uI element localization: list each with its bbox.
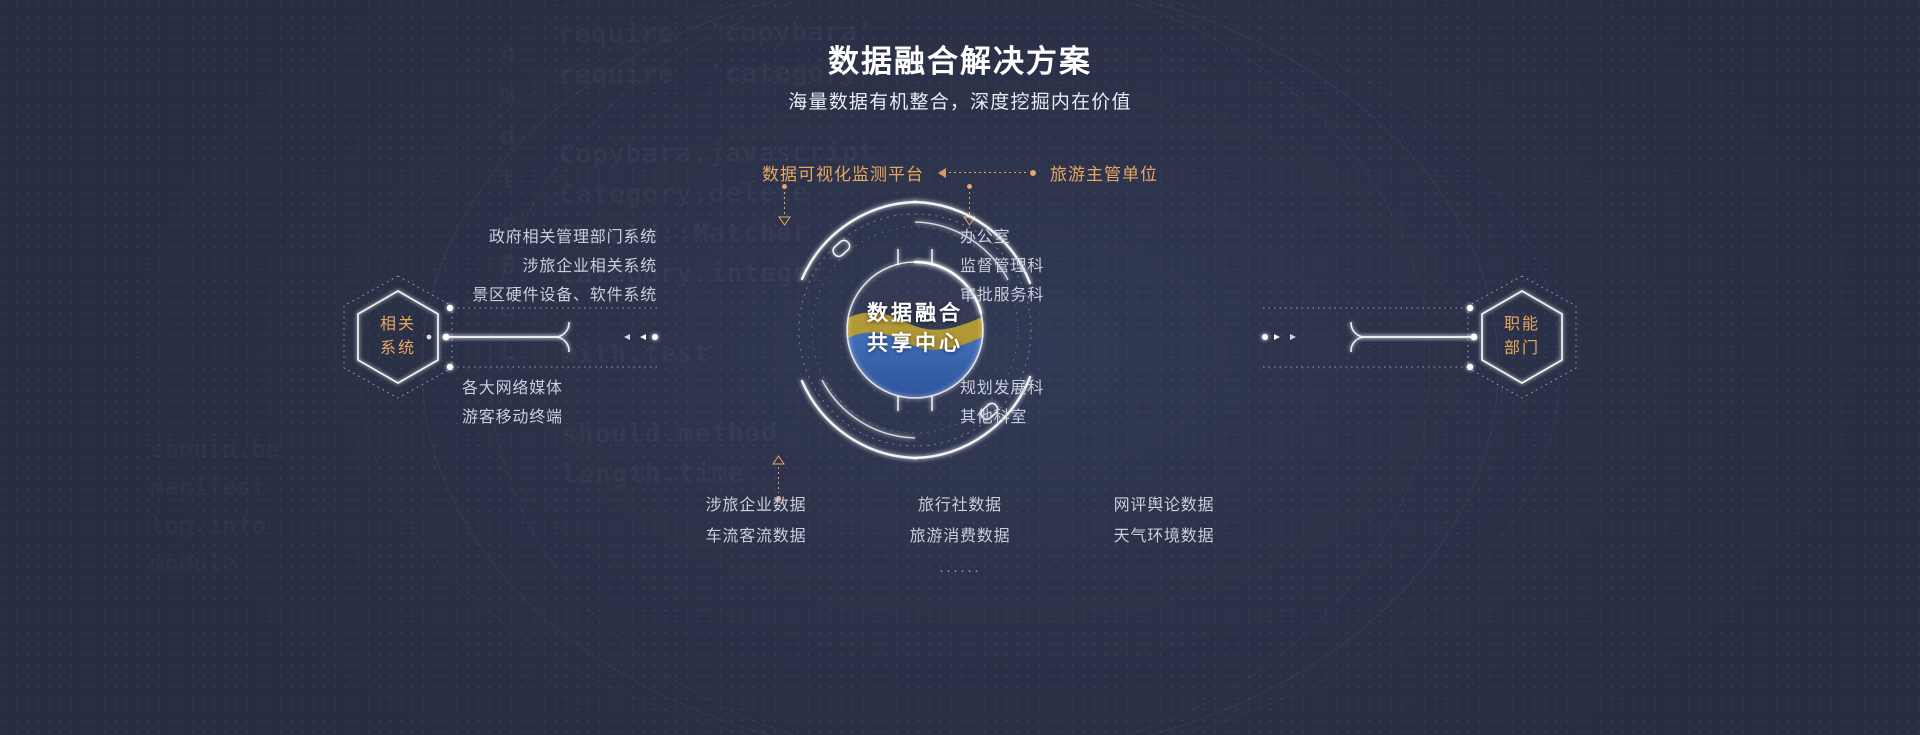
- right-department-list-upper: 办公室 监督管理科 审批服务科: [960, 223, 1044, 310]
- hexagon-label-line1: 职能: [1504, 313, 1540, 337]
- data-label: 旅游消费数据: [885, 521, 1035, 552]
- hexagon-label-line2: 部门: [1504, 337, 1540, 361]
- hexagon-label-group: 职能 部门: [1462, 272, 1582, 402]
- hexagon-functional-departments[interactable]: 职能 部门: [1462, 272, 1582, 402]
- data-label: 旅行社数据: [885, 490, 1035, 521]
- list-item: 各大网络媒体: [462, 374, 563, 403]
- list-item: 政府相关管理部门系统: [462, 223, 657, 252]
- list-item: 监督管理科: [960, 252, 1044, 281]
- data-row-2: 车流客流数据 旅游消费数据 天气环境数据: [560, 521, 1360, 552]
- list-item: 景区硬件设备、软件系统: [462, 281, 657, 310]
- hexagon-label-line1: 相关: [380, 313, 416, 337]
- list-item: 其他科室: [960, 403, 1044, 432]
- left-source-list-upper: 政府相关管理部门系统 涉旅企业相关系统 景区硬件设备、软件系统: [462, 223, 657, 310]
- hexagon-label-line2: 系统: [380, 337, 416, 361]
- list-item: 涉旅企业相关系统: [462, 252, 657, 281]
- list-item: 办公室: [960, 223, 1044, 252]
- list-item: 规划发展科: [960, 374, 1044, 403]
- hexagon-label-group: 相关 系统: [338, 272, 458, 402]
- data-label: 涉旅企业数据: [681, 490, 831, 521]
- right-department-list-lower: 规划发展科 其他科室: [960, 374, 1044, 432]
- list-item: 审批服务科: [960, 281, 1044, 310]
- ring-marker: [831, 238, 852, 258]
- infographic-canvas: a m d t r E e L require 'copybara' requi…: [0, 0, 1920, 735]
- data-more-indicator: ······: [560, 562, 1360, 579]
- data-label: 车流客流数据: [681, 521, 831, 552]
- list-item: 游客移动终端: [462, 403, 563, 432]
- left-source-list-lower: 各大网络媒体 游客移动终端: [462, 374, 563, 432]
- data-label: 网评舆论数据: [1089, 490, 1239, 521]
- hexagon-related-systems[interactable]: 相关 系统: [338, 272, 458, 402]
- data-label: 天气环境数据: [1089, 521, 1239, 552]
- data-row-1: 涉旅企业数据 旅行社数据 网评舆论数据: [560, 490, 1360, 521]
- bottom-data-grid: 涉旅企业数据 旅行社数据 网评舆论数据 车流客流数据 旅游消费数据 天气环境数据…: [560, 490, 1360, 579]
